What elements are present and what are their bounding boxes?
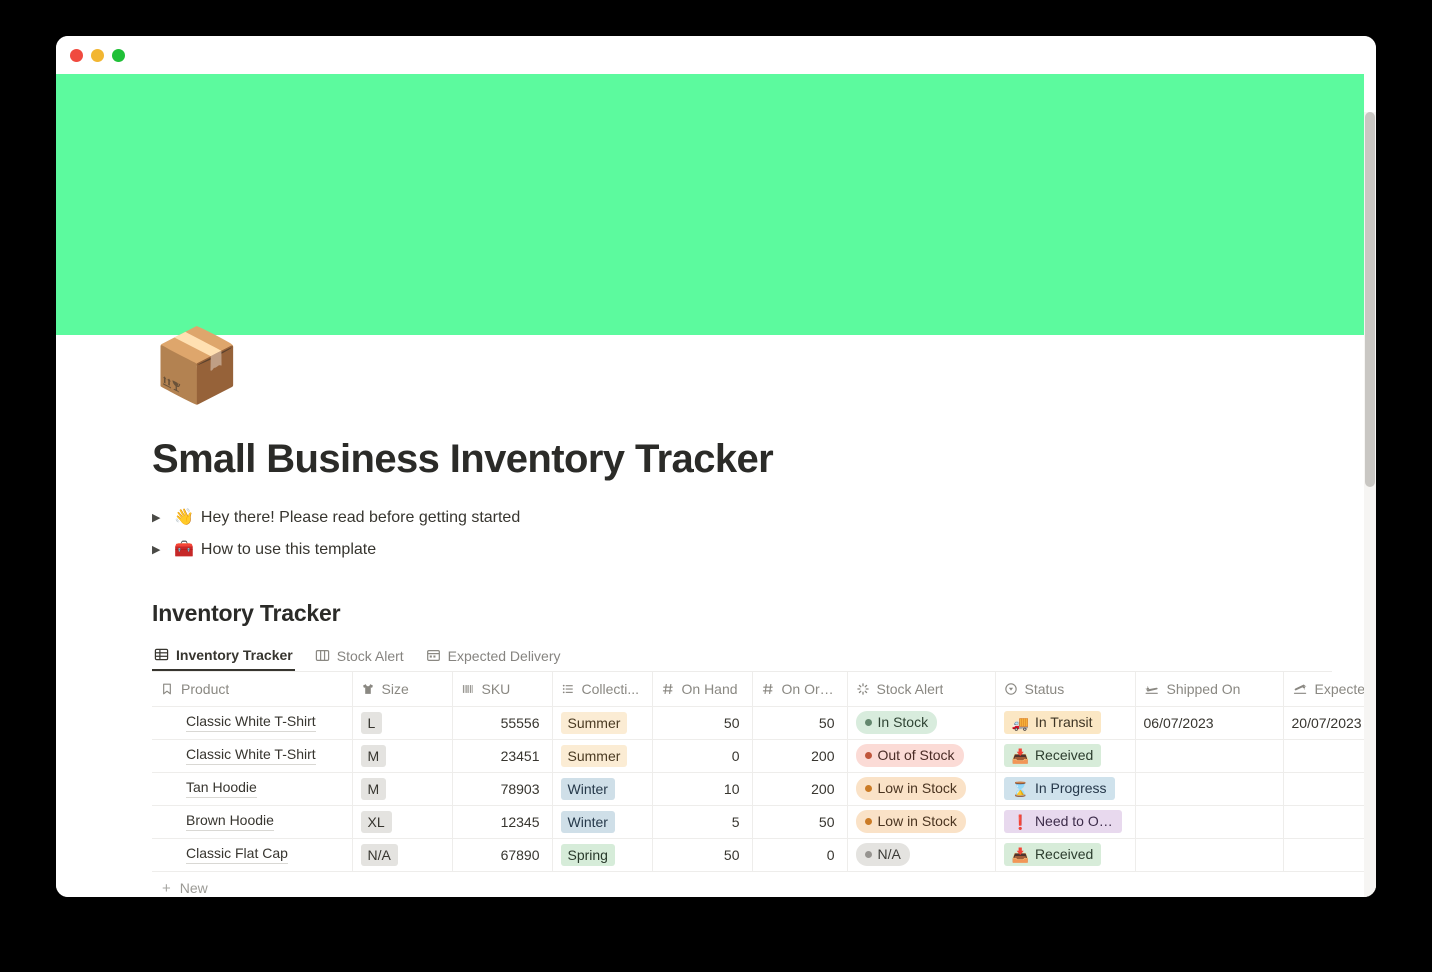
cell-size[interactable]: M: [352, 739, 452, 772]
cell-product[interactable]: Tan Hoodie: [152, 772, 352, 805]
database-view-tabs: Inventory Tracker Stock Alert: [152, 640, 1332, 672]
cell-on-hand[interactable]: 50: [652, 838, 752, 871]
traffic-light-buttons: [70, 49, 125, 62]
cell-collection[interactable]: Winter: [552, 772, 652, 805]
stock-alert-pill: Low in Stock: [856, 810, 966, 833]
tab-label-stock-alert: Stock Alert: [337, 648, 404, 664]
cell-size[interactable]: L: [352, 706, 452, 739]
cell-shipped-on[interactable]: [1135, 739, 1283, 772]
cell-status[interactable]: 📥Received: [995, 838, 1135, 871]
page-icon[interactable]: 📦: [152, 330, 242, 402]
cell-product[interactable]: Classic White T-Shirt: [152, 706, 352, 739]
chevron-right-icon[interactable]: ▶: [152, 545, 174, 556]
bookmark-icon: [160, 682, 174, 696]
status-dot-icon: [865, 785, 872, 792]
new-row-label: New: [180, 880, 208, 896]
column-header-product[interactable]: Product: [152, 672, 352, 706]
plane-arrow-icon: [1292, 682, 1308, 696]
size-tag: XL: [361, 811, 392, 833]
cell-stock-alert[interactable]: Out of Stock: [847, 739, 995, 772]
status-tag: 🚚In Transit: [1004, 711, 1101, 734]
board-icon: [315, 648, 330, 663]
cell-collection[interactable]: Spring: [552, 838, 652, 871]
select-list-icon: [561, 682, 575, 696]
stock-alert-pill: Low in Stock: [856, 777, 966, 800]
cell-sku[interactable]: 78903: [452, 772, 552, 805]
cell-product[interactable]: Classic White T-Shirt: [152, 739, 352, 772]
tab-stock-alert[interactable]: Stock Alert: [313, 640, 406, 671]
toggle-block-howto[interactable]: ▶ 🧰 How to use this template: [152, 534, 1332, 566]
collection-tag: Summer: [561, 745, 628, 767]
cell-status[interactable]: 🚚In Transit: [995, 706, 1135, 739]
page-cover-image: [56, 74, 1364, 335]
column-header-size[interactable]: Size: [352, 672, 452, 706]
cell-stock-alert[interactable]: In Stock: [847, 706, 995, 739]
table-icon: [154, 647, 169, 662]
status-dot-icon: [865, 818, 872, 825]
minimize-button[interactable]: [91, 49, 104, 62]
product-link[interactable]: Classic Flat Cap: [186, 845, 288, 864]
tab-label-expected-delivery: Expected Delivery: [448, 648, 561, 664]
database-title[interactable]: Inventory Tracker: [152, 600, 1332, 627]
stock-alert-label: N/A: [878, 845, 901, 864]
product-link[interactable]: Brown Hoodie: [186, 812, 274, 831]
stock-alert-label: Low in Stock: [878, 779, 957, 798]
cell-on-hand[interactable]: 50: [652, 706, 752, 739]
cell-stock-alert[interactable]: Low in Stock: [847, 772, 995, 805]
cell-stock-alert[interactable]: N/A: [847, 838, 995, 871]
status-dot-icon: [865, 851, 872, 858]
barcode-icon: [461, 682, 475, 696]
cell-status[interactable]: ⌛In Progress: [995, 772, 1135, 805]
cell-status[interactable]: ❗Need to Or...: [995, 805, 1135, 838]
chevron-right-icon[interactable]: ▶: [152, 513, 174, 524]
hourglass-icon: ⌛: [1012, 782, 1029, 796]
column-label-status: Status: [1025, 681, 1065, 697]
cell-sku[interactable]: 12345: [452, 805, 552, 838]
cell-status[interactable]: 📥Received: [995, 739, 1135, 772]
inbox-tray-icon: 📥: [1012, 848, 1029, 862]
column-label-collection: Collecti...: [582, 681, 640, 697]
column-label-product: Product: [181, 681, 229, 697]
product-link[interactable]: Classic White T-Shirt: [186, 746, 316, 765]
column-label-sku: SKU: [482, 681, 511, 697]
stock-alert-label: Out of Stock: [878, 746, 955, 765]
table-row[interactable]: Classic White T-Shirt M 23451 Summer 0 2…: [152, 739, 1376, 772]
cell-collection[interactable]: Winter: [552, 805, 652, 838]
product-link[interactable]: Tan Hoodie: [186, 779, 257, 798]
cell-size[interactable]: XL: [352, 805, 452, 838]
cell-on-order[interactable]: 50: [752, 805, 847, 838]
status-circle-icon: [1004, 682, 1018, 696]
column-header-stock-alert[interactable]: Stock Alert: [847, 672, 995, 706]
status-label: In Progress: [1035, 779, 1107, 798]
collection-tag: Winter: [561, 778, 615, 800]
toggle-block-welcome[interactable]: ▶ 👋 Hey there! Please read before gettin…: [152, 502, 1332, 534]
column-label-on-order: On Order: [782, 681, 839, 697]
formula-spinner-icon: [856, 682, 870, 696]
cell-on-hand[interactable]: 0: [652, 739, 752, 772]
cell-shipped-on[interactable]: [1135, 772, 1283, 805]
collection-tag: Winter: [561, 811, 615, 833]
cell-product[interactable]: Brown Hoodie: [152, 805, 352, 838]
column-label-stock-alert: Stock Alert: [877, 681, 944, 697]
column-label-size: Size: [382, 681, 409, 697]
stock-alert-label: Low in Stock: [878, 812, 957, 831]
cell-product[interactable]: Classic Flat Cap: [152, 838, 352, 871]
browser-window: 📦 Small Business Inventory Tracker ▶ 👋 H…: [56, 36, 1376, 897]
column-header-sku[interactable]: SKU: [452, 672, 552, 706]
status-tag: ⌛In Progress: [1004, 777, 1115, 800]
close-button[interactable]: [70, 49, 83, 62]
cell-size[interactable]: N/A: [352, 838, 452, 871]
page-title: Small Business Inventory Tracker: [152, 436, 1332, 482]
cell-expected-delivery[interactable]: [1283, 739, 1376, 772]
add-new-row-button[interactable]: + New: [152, 872, 1307, 898]
size-tag: M: [361, 778, 387, 800]
vertical-scrollbar[interactable]: [1364, 112, 1376, 897]
table-row[interactable]: Tan Hoodie M 78903 Winter 10 200 Low in …: [152, 772, 1376, 805]
cell-sku[interactable]: 67890: [452, 838, 552, 871]
stock-alert-label: In Stock: [878, 713, 929, 732]
column-header-collection[interactable]: Collecti...: [552, 672, 652, 706]
column-header-shipped-on[interactable]: Shipped On: [1135, 672, 1283, 706]
cell-expected-delivery[interactable]: 20/07/2023: [1283, 706, 1376, 739]
cell-expected-delivery[interactable]: [1283, 772, 1376, 805]
size-tag: N/A: [361, 844, 398, 866]
truck-icon: 🚚: [1012, 716, 1029, 730]
size-tag: M: [361, 745, 387, 767]
tshirt-icon: [361, 682, 375, 696]
tab-expected-delivery[interactable]: Expected Delivery: [424, 640, 563, 671]
calendar-icon: [426, 648, 441, 663]
plus-icon: +: [162, 881, 171, 896]
table-header-row: Product: [152, 672, 1376, 706]
stock-alert-pill: In Stock: [856, 711, 938, 734]
toggle-label-howto: How to use this template: [201, 542, 376, 558]
status-tag: 📥Received: [1004, 744, 1102, 767]
tab-label-inventory-tracker: Inventory Tracker: [176, 647, 293, 663]
page-content: Small Business Inventory Tracker ▶ 👋 Hey…: [152, 436, 1332, 897]
column-header-status[interactable]: Status: [995, 672, 1135, 706]
cell-on-order[interactable]: 50: [752, 706, 847, 739]
column-header-on-order[interactable]: On Order: [752, 672, 847, 706]
cell-on-order[interactable]: 0: [752, 838, 847, 871]
cell-shipped-on[interactable]: [1135, 805, 1283, 838]
table-row[interactable]: Classic Flat Cap N/A 67890 Spring 50 0 N…: [152, 838, 1376, 871]
toggle-label-welcome: Hey there! Please read before getting st…: [201, 510, 520, 526]
cell-expected-delivery[interactable]: [1283, 838, 1376, 871]
scrollbar-thumb[interactable]: [1365, 112, 1375, 487]
wave-hand-icon: 👋: [174, 510, 194, 526]
app-root: 📦 Small Business Inventory Tracker ▶ 👋 H…: [0, 0, 1432, 972]
cell-shipped-on[interactable]: 06/07/2023: [1135, 706, 1283, 739]
zoom-button[interactable]: [112, 49, 125, 62]
status-label: Need to Or...: [1035, 812, 1114, 831]
cell-collection[interactable]: Summer: [552, 706, 652, 739]
table-row[interactable]: Brown Hoodie XL 12345 Winter 5 50 Low in…: [152, 805, 1376, 838]
inbox-tray-icon: 📥: [1012, 749, 1029, 763]
tab-inventory-tracker[interactable]: Inventory Tracker: [152, 640, 295, 671]
cell-on-order[interactable]: 200: [752, 772, 847, 805]
table-row[interactable]: Classic White T-Shirt L 55556 Summer 50 …: [152, 706, 1376, 739]
cell-shipped-on[interactable]: [1135, 838, 1283, 871]
column-header-expected-delivery[interactable]: Expecte: [1283, 672, 1376, 706]
status-label: In Transit: [1035, 713, 1093, 732]
collection-tag: Summer: [561, 712, 628, 734]
status-tag: 📥Received: [1004, 843, 1102, 866]
column-header-on-hand[interactable]: On Hand: [652, 672, 752, 706]
cell-size[interactable]: M: [352, 772, 452, 805]
cell-on-order[interactable]: 200: [752, 739, 847, 772]
size-tag: L: [361, 712, 383, 734]
plane-landing-icon: [1144, 682, 1160, 696]
collection-tag: Spring: [561, 844, 615, 866]
window-titlebar: [56, 36, 1376, 74]
stock-alert-pill: N/A: [856, 843, 910, 866]
status-label: Received: [1035, 845, 1093, 864]
cell-on-hand[interactable]: 5: [652, 805, 752, 838]
product-link[interactable]: Classic White T-Shirt: [186, 713, 316, 732]
page-scroll-area: 📦 Small Business Inventory Tracker ▶ 👋 H…: [56, 74, 1376, 897]
status-dot-icon: [865, 719, 872, 726]
status-label: Received: [1035, 746, 1093, 765]
cell-stock-alert[interactable]: Low in Stock: [847, 805, 995, 838]
table-body: Classic White T-Shirt L 55556 Summer 50 …: [152, 706, 1376, 871]
cell-on-hand[interactable]: 10: [652, 772, 752, 805]
cell-collection[interactable]: Summer: [552, 739, 652, 772]
exclamation-icon: ❗: [1012, 815, 1029, 829]
cell-sku[interactable]: 23451: [452, 739, 552, 772]
status-dot-icon: [865, 752, 872, 759]
cell-expected-delivery[interactable]: [1283, 805, 1376, 838]
column-label-shipped-on: Shipped On: [1167, 681, 1241, 697]
toolbox-icon: 🧰: [174, 542, 194, 558]
cell-sku[interactable]: 55556: [452, 706, 552, 739]
column-label-expected-delivery: Expecte: [1315, 681, 1366, 697]
column-label-on-hand: On Hand: [682, 681, 738, 697]
stock-alert-pill: Out of Stock: [856, 744, 964, 767]
inventory-table: Product: [152, 672, 1376, 872]
number-hash-icon: [761, 682, 775, 696]
number-hash-icon: [661, 682, 675, 696]
status-tag: ❗Need to Or...: [1004, 810, 1122, 833]
